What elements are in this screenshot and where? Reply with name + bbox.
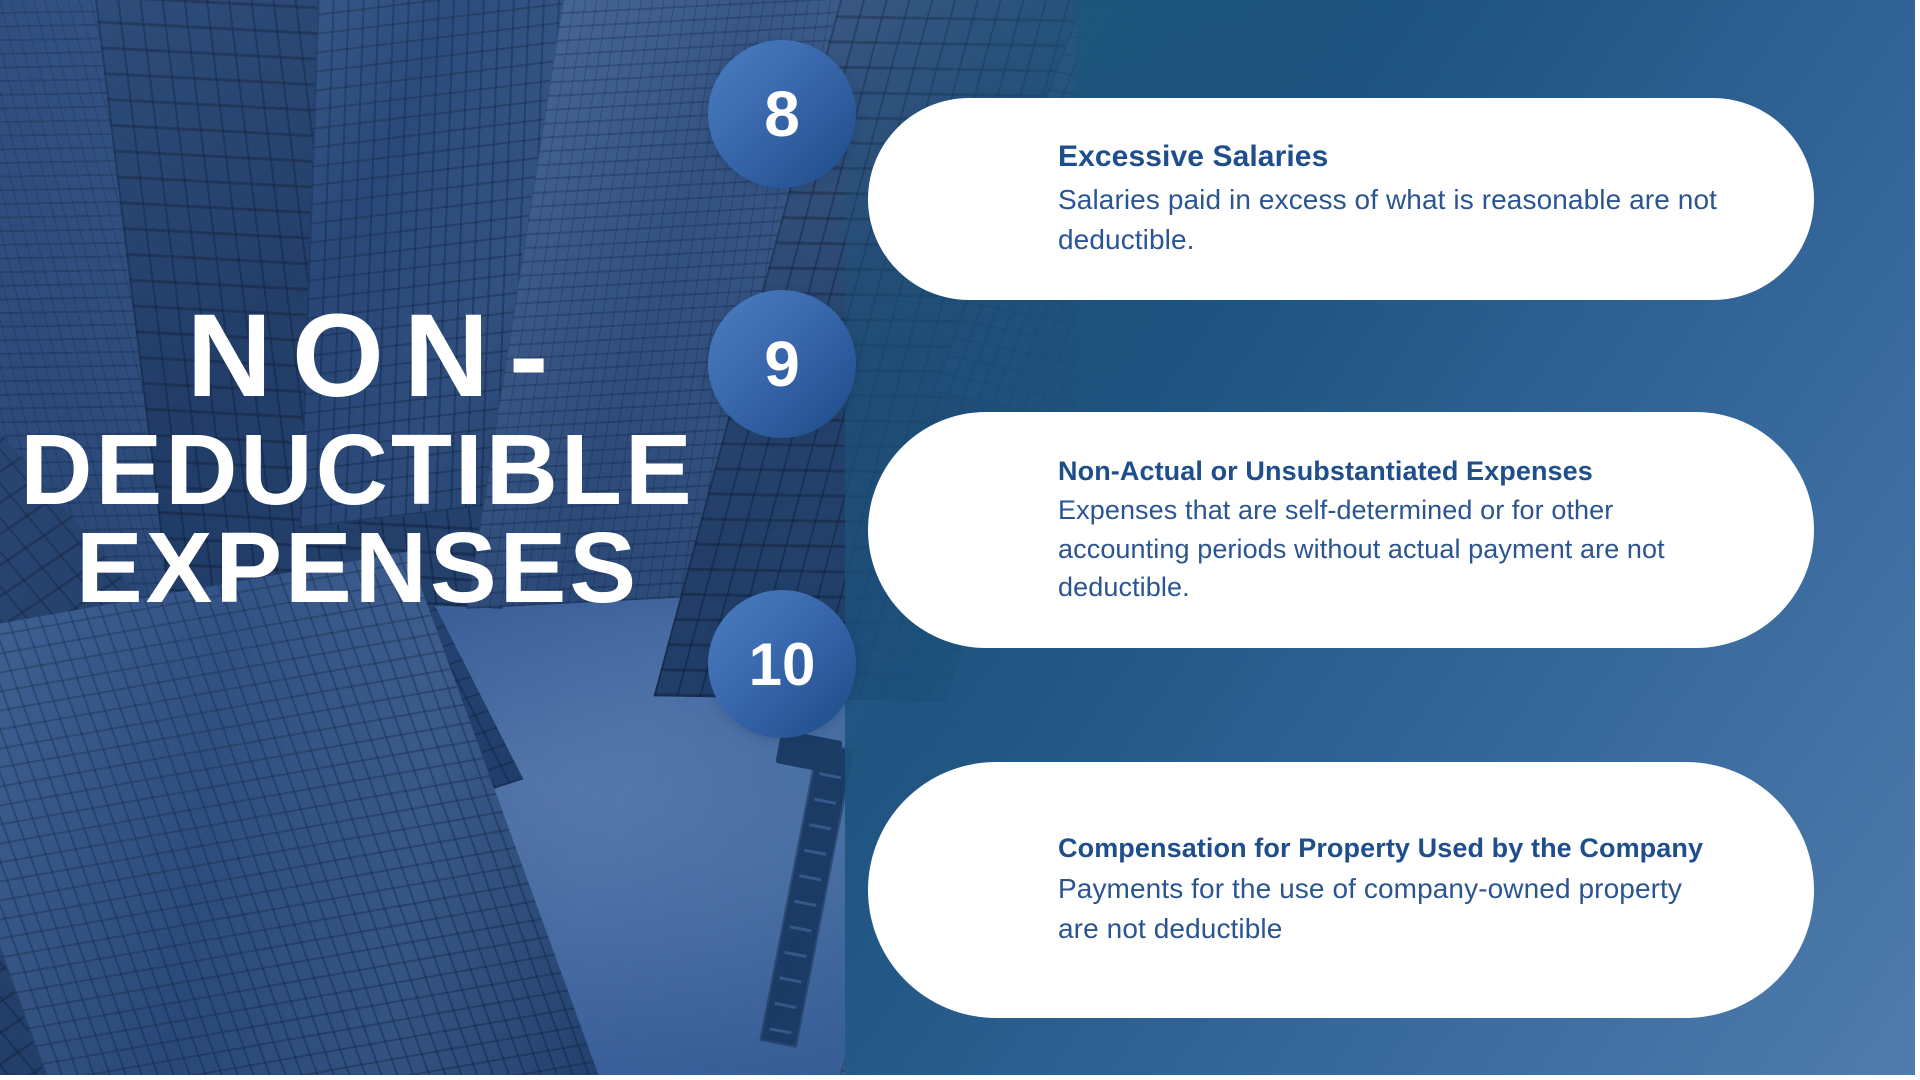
card-title: Compensation for Property Used by the Co… <box>1058 831 1730 866</box>
list-item[interactable]: Excessive Salaries Salaries paid in exce… <box>868 98 1814 300</box>
expense-card-list: Excessive Salaries Salaries paid in exce… <box>868 0 1920 1080</box>
list-item[interactable]: Compensation for Property Used by the Co… <box>868 762 1814 1018</box>
title-line-2: DEDUCTIBLE <box>0 419 715 521</box>
step-number-badge: 10 <box>708 590 856 738</box>
card-title: Excessive Salaries <box>1058 138 1730 176</box>
card-text: Salaries paid in excess of what is reaso… <box>1058 180 1730 260</box>
card-text: Expenses that are self-determined or for… <box>1058 491 1730 606</box>
step-number-badge: 8 <box>708 40 856 188</box>
card-content: Compensation for Property Used by the Co… <box>868 831 1814 948</box>
slide-root: NON- DEDUCTIBLE EXPENSES Excessive Salar… <box>0 0 1920 1080</box>
card-content: Non-Actual or Unsubstantiated Expenses E… <box>868 454 1814 607</box>
step-number-badge: 9 <box>708 290 856 438</box>
page-title: NON- DEDUCTIBLE EXPENSES <box>0 288 715 619</box>
card-title: Non-Actual or Unsubstantiated Expenses <box>1058 454 1730 489</box>
list-item[interactable]: Non-Actual or Unsubstantiated Expenses E… <box>868 412 1814 648</box>
title-line-3: EXPENSES <box>0 517 715 619</box>
title-line-1: NON- <box>0 288 715 425</box>
card-content: Excessive Salaries Salaries paid in exce… <box>868 138 1814 260</box>
card-text: Payments for the use of company-owned pr… <box>1058 869 1730 949</box>
